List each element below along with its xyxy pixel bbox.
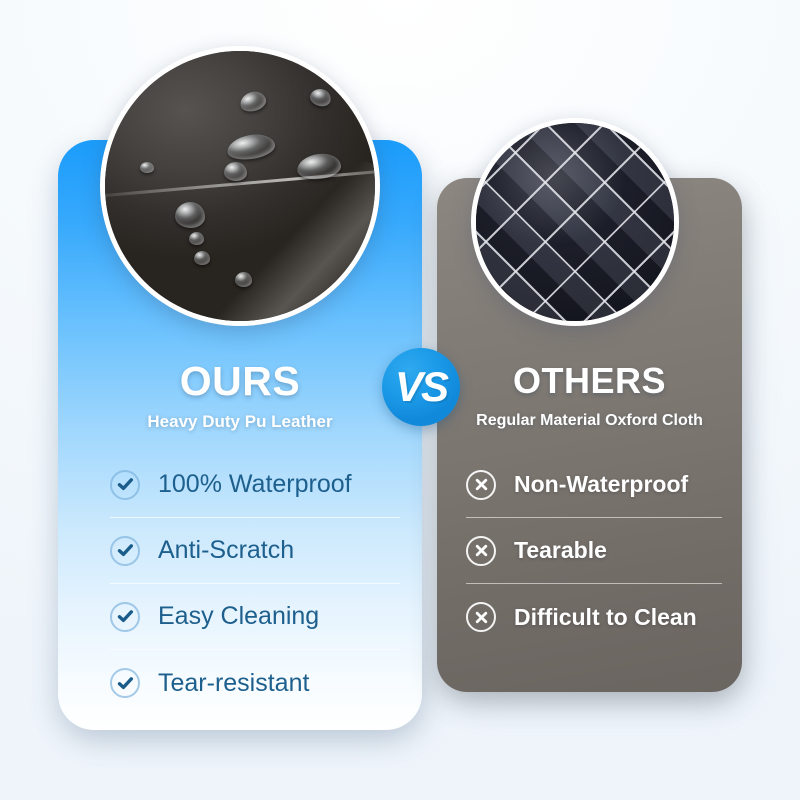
quilted-oxford-texture — [476, 123, 674, 321]
ours-photo — [100, 46, 380, 326]
list-item-label: 100% Waterproof — [158, 470, 352, 499]
list-item-label: Tear-resistant — [158, 669, 309, 698]
list-item: Tearable — [466, 518, 722, 584]
ours-subtitle: Heavy Duty Pu Leather — [58, 412, 422, 432]
water-droplet — [194, 251, 210, 265]
others-title: OTHERS — [437, 360, 742, 402]
versus-label: VS — [395, 366, 447, 408]
check-icon — [110, 470, 140, 500]
comparison-infographic: OURS Heavy Duty Pu Leather OTHERS Regula… — [0, 0, 800, 800]
water-droplet — [189, 232, 204, 245]
check-icon — [110, 602, 140, 632]
others-photo-inner — [476, 123, 674, 321]
cross-icon — [466, 602, 496, 632]
list-item-label: Anti-Scratch — [158, 536, 294, 565]
water-droplet — [224, 162, 247, 181]
cross-icon — [466, 470, 496, 500]
others-feature-list: Non-Waterproof Tearable Difficult to Cle… — [466, 452, 722, 650]
list-item: Anti-Scratch — [110, 518, 400, 584]
others-subtitle: Regular Material Oxford Cloth — [437, 412, 742, 430]
versus-badge: VS — [382, 348, 460, 426]
list-item-label: Non-Waterproof — [514, 471, 688, 498]
list-item-label: Easy Cleaning — [158, 602, 319, 631]
list-item: 100% Waterproof — [110, 452, 400, 518]
list-item: Tear-resistant — [110, 650, 400, 716]
ours-feature-list: 100% Waterproof Anti-Scratch Easy Cleani… — [110, 452, 400, 716]
list-item: Easy Cleaning — [110, 584, 400, 650]
water-droplet — [175, 202, 205, 228]
others-photo — [471, 118, 679, 326]
check-icon — [110, 668, 140, 698]
cross-icon — [466, 536, 496, 566]
list-item: Difficult to Clean — [466, 584, 722, 650]
list-item: Non-Waterproof — [466, 452, 722, 518]
ours-photo-inner — [105, 51, 375, 321]
ours-title: OURS — [58, 358, 422, 405]
water-droplet — [140, 162, 154, 173]
water-droplet — [235, 272, 252, 287]
check-icon — [110, 536, 140, 566]
list-item-label: Tearable — [514, 537, 607, 564]
list-item-label: Difficult to Clean — [514, 604, 697, 631]
